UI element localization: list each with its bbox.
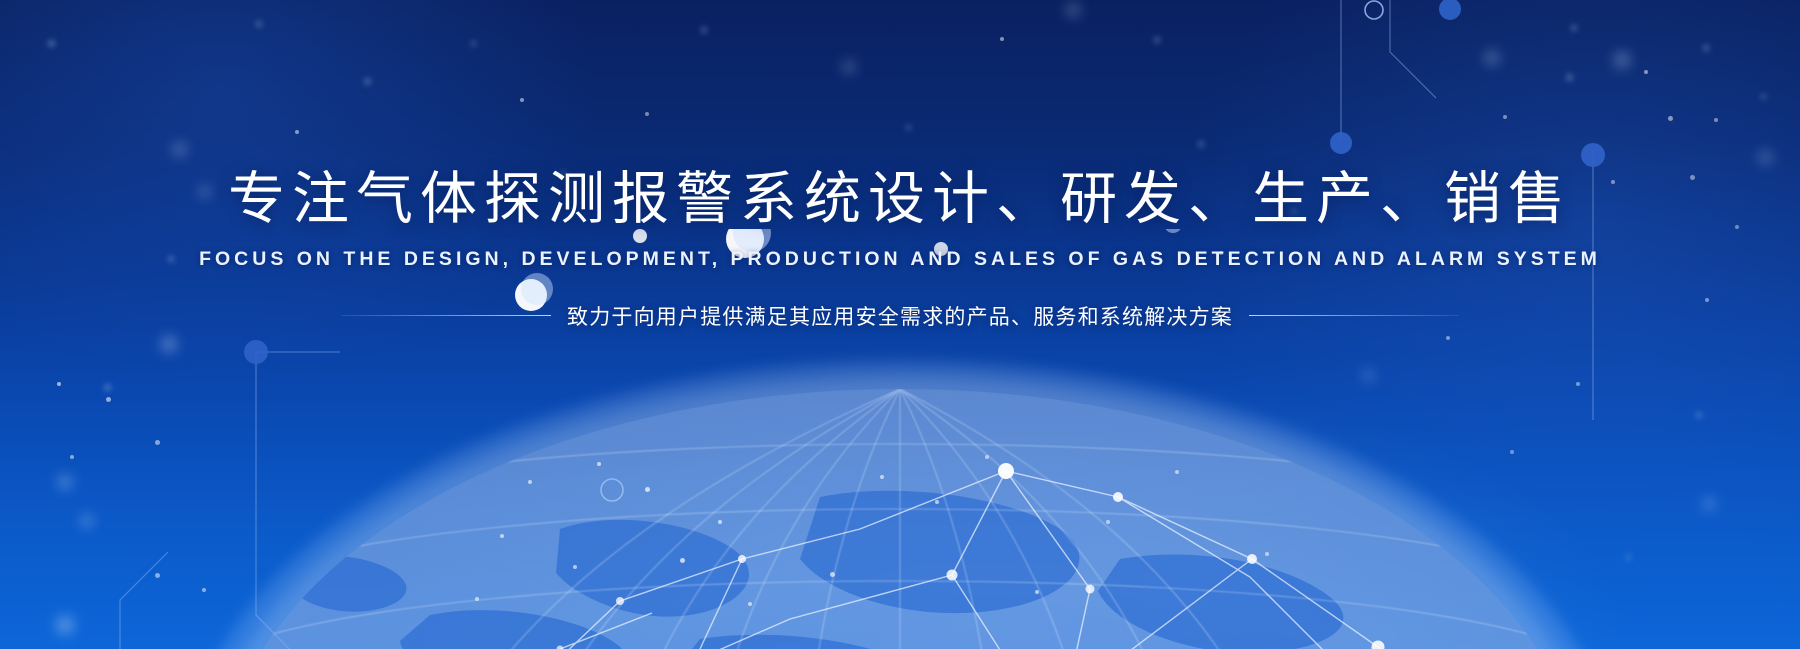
globe-latitude-lines xyxy=(224,444,1576,649)
banner-tagline: 致力于向用户提供满足其应用安全需求的产品、服务和系统解决方案 xyxy=(567,301,1233,331)
continent-shapes xyxy=(286,491,1344,649)
globe-node-dots xyxy=(496,463,1385,649)
tagline-rule-right xyxy=(1249,315,1459,316)
tagline-rule-left xyxy=(341,315,551,316)
glow-bottom xyxy=(360,369,1620,649)
globe-longitude-lines xyxy=(372,389,1326,649)
banner-subheadline: FOCUS ON THE DESIGN, DEVELOPMENT, PRODUC… xyxy=(0,248,1800,271)
hero-banner: 专注气体探测报警系统设计、研发、生产、销售 FOCUS ON THE DESIG… xyxy=(0,0,1800,649)
globe-connection-lines xyxy=(460,471,1458,649)
banner-text-block: 专注气体探测报警系统设计、研发、生产、销售 FOCUS ON THE DESIG… xyxy=(0,168,1800,331)
banner-headline: 专注气体探测报警系统设计、研发、生产、销售 xyxy=(0,168,1800,232)
banner-tagline-row: 致力于向用户提供满足其应用安全需求的产品、服务和系统解决方案 xyxy=(0,301,1800,331)
